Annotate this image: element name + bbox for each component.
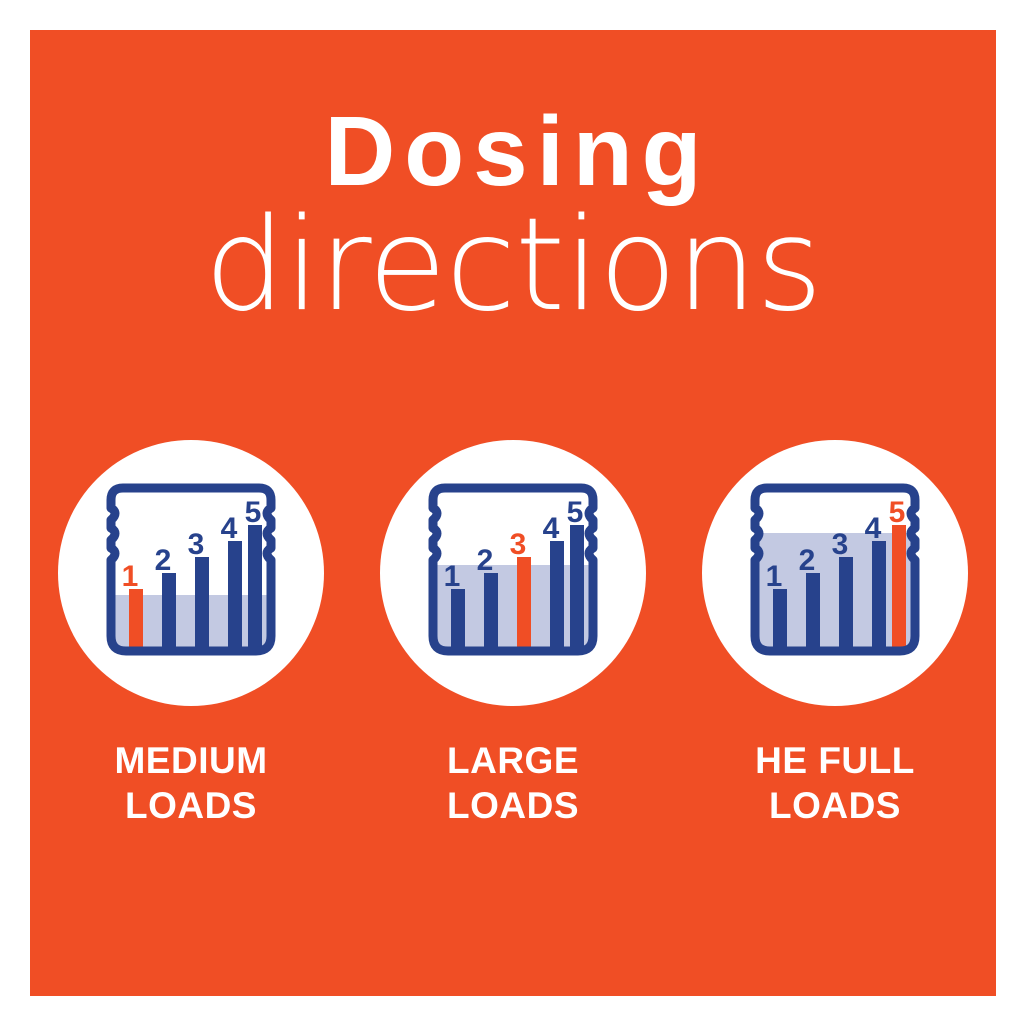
dosing-cap-icon: 1 2 3 4 5	[407, 478, 619, 668]
icon-circle-he-full-loads: 1 2 3 4 5	[702, 440, 968, 706]
liquid-fill	[85, 595, 297, 668]
dosing-card-he-full-loads: 1 2 3 4 5 HE FULL LOADS	[682, 440, 988, 870]
dose-label-2: 2	[477, 544, 494, 577]
page-title: Dosing directions	[30, 104, 996, 330]
dose-bar-5	[248, 525, 262, 651]
dose-label-3: 3	[188, 528, 205, 561]
dose-label-4: 4	[543, 512, 560, 545]
card-label-he-full-loads: HE FULL LOADS	[755, 738, 915, 828]
card-label-large-loads: LARGE LOADS	[447, 738, 579, 828]
dose-bar-2	[806, 573, 820, 651]
dose-label-5: 5	[889, 496, 906, 529]
title-line-directions: directions	[30, 202, 996, 330]
dose-label-1: 1	[766, 560, 783, 593]
dose-bar-1	[451, 589, 465, 651]
dose-bar-2	[162, 573, 176, 651]
dose-label-2: 2	[799, 544, 816, 577]
dosing-cap-icon: 1 2 3 4 5	[729, 478, 941, 668]
dose-bar-5	[892, 525, 906, 651]
dosing-cap-icon: 1 2 3 4 5	[85, 478, 297, 668]
dose-label-1: 1	[122, 560, 139, 593]
dosing-cards-row: 1 2 3 4 5 MEDIUM LOADS	[30, 440, 996, 870]
dose-label-1: 1	[444, 560, 461, 593]
dose-label-5: 5	[245, 496, 262, 529]
dose-bar-3	[517, 557, 531, 651]
icon-circle-medium-loads: 1 2 3 4 5	[58, 440, 324, 706]
dose-bar-4	[228, 541, 242, 651]
dose-bar-2	[484, 573, 498, 651]
dosing-card-medium-loads: 1 2 3 4 5 MEDIUM LOADS	[38, 440, 344, 870]
dose-bar-4	[550, 541, 564, 651]
dose-label-4: 4	[865, 512, 882, 545]
dose-bar-3	[839, 557, 853, 651]
dose-bar-1	[773, 589, 787, 651]
dose-label-3: 3	[510, 528, 527, 561]
icon-circle-large-loads: 1 2 3 4 5	[380, 440, 646, 706]
card-label-medium-loads: MEDIUM LOADS	[114, 738, 267, 828]
dose-label-4: 4	[221, 512, 238, 545]
dose-bar-3	[195, 557, 209, 651]
dose-bar-1	[129, 589, 143, 651]
dosing-card-large-loads: 1 2 3 4 5 LARGE LOADS	[360, 440, 666, 870]
dose-label-2: 2	[155, 544, 172, 577]
dose-label-5: 5	[567, 496, 584, 529]
title-line-dosing: Dosing	[30, 104, 996, 198]
poster-canvas: Dosing directions	[30, 30, 996, 996]
dose-bar-4	[872, 541, 886, 651]
dose-label-3: 3	[832, 528, 849, 561]
dose-bar-5	[570, 525, 584, 651]
